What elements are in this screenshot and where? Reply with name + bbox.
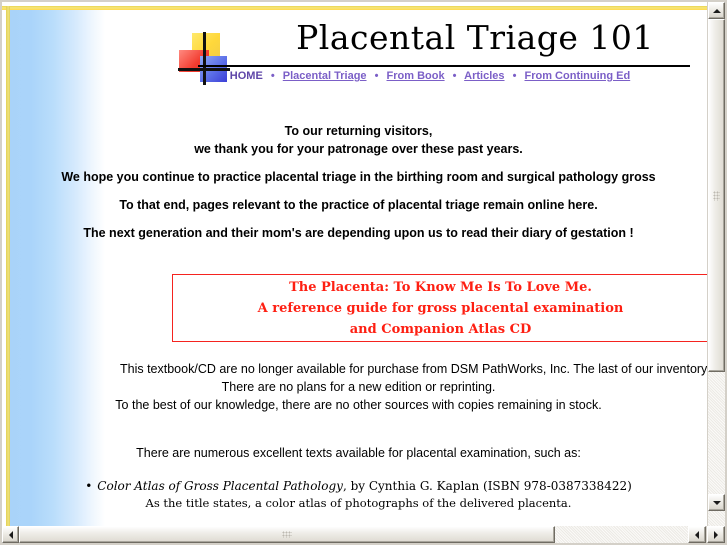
page-viewport: Placental Triage 101 HOME • Placental Tr… xyxy=(2,2,707,528)
arrow-right-icon xyxy=(714,531,718,539)
intro-line-1: To our returning visitors, xyxy=(10,122,707,140)
reference-meta: , by Cynthia G. Kaplan (ISBN 978-0387338… xyxy=(343,479,632,493)
horizontal-scrollbar-thumb[interactable] xyxy=(19,526,555,543)
nav-separator: • xyxy=(448,70,462,82)
spacer xyxy=(10,158,707,168)
callout-line-3: and Companion Atlas CD xyxy=(350,319,532,340)
availability-line-3: To the best of our knowledge, there are … xyxy=(10,396,707,414)
reference-item: •Color Atlas of Gross Placental Patholog… xyxy=(10,478,707,495)
arrow-left-icon xyxy=(9,531,13,539)
main-navigation: HOME • Placental Triage • From Book • Ar… xyxy=(170,70,690,82)
scrollbar-grip-icon xyxy=(713,191,720,201)
intro-line-3: We hope you continue to practice placent… xyxy=(10,168,707,186)
horizontal-scrollbar[interactable] xyxy=(2,526,707,543)
scroll-up-button[interactable] xyxy=(708,2,725,19)
nav-item-articles[interactable]: Articles xyxy=(464,70,504,82)
vertical-scrollbar[interactable] xyxy=(708,2,725,528)
nav-separator: • xyxy=(266,70,280,82)
availability-line-2: There are no plans for a new edition or … xyxy=(10,378,707,396)
scroll-left-button[interactable] xyxy=(2,526,19,543)
scroll-corner-right-button[interactable] xyxy=(707,526,725,543)
availability-line-1: This textbook/CD are no longer available… xyxy=(120,360,707,378)
page-content: Placental Triage 101 HOME • Placental Tr… xyxy=(10,10,707,528)
availability-notice: This textbook/CD are no longer available… xyxy=(10,360,707,414)
reference-note: As the title states, a color atlas of ph… xyxy=(10,495,707,512)
arrow-up-icon xyxy=(713,9,721,13)
arrow-down-icon xyxy=(713,501,721,505)
scroll-down-button[interactable] xyxy=(708,494,725,511)
masthead: Placental Triage 101 HOME • Placental Tr… xyxy=(170,10,690,90)
scroll-corner-controls[interactable] xyxy=(688,526,725,543)
nav-item-home[interactable]: HOME xyxy=(230,70,263,82)
reference-title: Color Atlas of Gross Placental Pathology xyxy=(97,479,343,493)
spacer xyxy=(10,214,707,224)
intro-line-2: we thank you for your patronage over the… xyxy=(10,140,707,158)
intro-line-4: To that end, pages relevant to the pract… xyxy=(10,196,707,214)
nav-separator: • xyxy=(508,70,522,82)
callout-line-1: The Placenta: To Know Me Is To Love Me. xyxy=(289,277,592,298)
book-callout-box: The Placenta: To Know Me Is To Love Me. … xyxy=(172,274,707,342)
intro-line-5: The next generation and their mom's are … xyxy=(10,224,707,242)
nav-item-from-book[interactable]: From Book xyxy=(387,70,445,82)
nav-item-placental-triage[interactable]: Placental Triage xyxy=(283,70,367,82)
callout-line-2: A reference guide for gross placental ex… xyxy=(258,298,624,319)
vertical-scrollbar-thumb[interactable] xyxy=(708,19,725,372)
recommended-texts-lead: There are numerous excellent texts avail… xyxy=(10,446,707,460)
intro-message: To our returning visitors, we thank you … xyxy=(10,122,707,242)
page-title: Placental Triage 101 xyxy=(260,18,690,57)
browser-window: Placental Triage 101 HOME • Placental Tr… xyxy=(0,0,727,545)
bullet-icon: • xyxy=(85,479,92,493)
nav-item-from-continuing-ed[interactable]: From Continuing Ed xyxy=(525,70,631,82)
scroll-corner-left-button[interactable] xyxy=(688,526,706,543)
title-divider xyxy=(198,65,690,67)
scrollbar-grip-icon xyxy=(282,531,292,538)
nav-separator: • xyxy=(370,70,384,82)
spacer xyxy=(10,186,707,196)
arrow-left-icon xyxy=(695,531,699,539)
